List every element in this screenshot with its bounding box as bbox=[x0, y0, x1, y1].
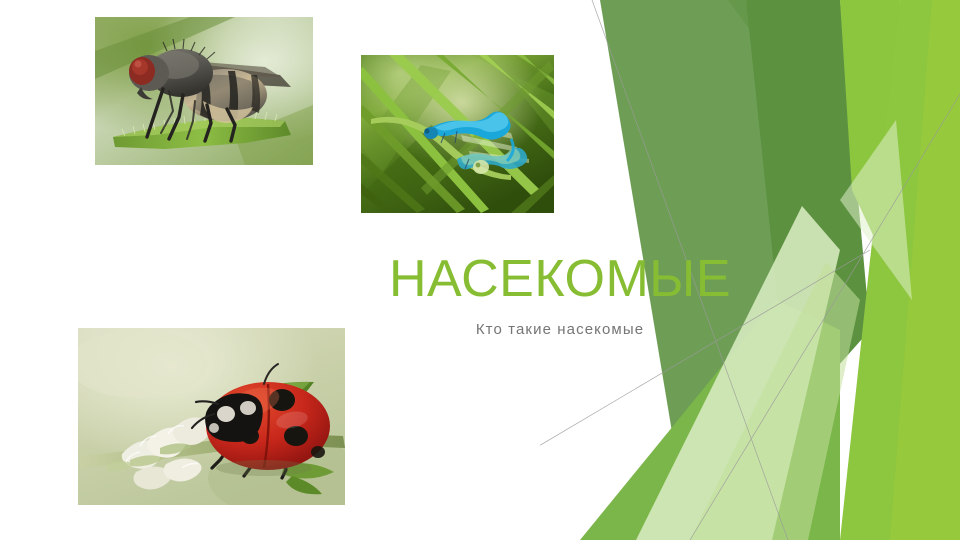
title-block: НАСЕКОМЫЕ Кто такие насекомые bbox=[360, 252, 760, 338]
fly-photo[interactable] bbox=[95, 17, 313, 165]
ladybug-photo-graphic bbox=[78, 328, 345, 505]
fly-photo-graphic bbox=[95, 17, 313, 165]
page-title[interactable]: НАСЕКОМЫЕ bbox=[360, 252, 760, 307]
presentation-slide: НАСЕКОМЫЕ Кто такие насекомые bbox=[0, 0, 960, 540]
damselfly-photo[interactable] bbox=[361, 55, 554, 213]
damselfly-photo-graphic bbox=[361, 55, 554, 213]
ladybug-photo[interactable] bbox=[78, 328, 345, 505]
slide-subtitle[interactable]: Кто такие насекомые bbox=[360, 321, 760, 338]
